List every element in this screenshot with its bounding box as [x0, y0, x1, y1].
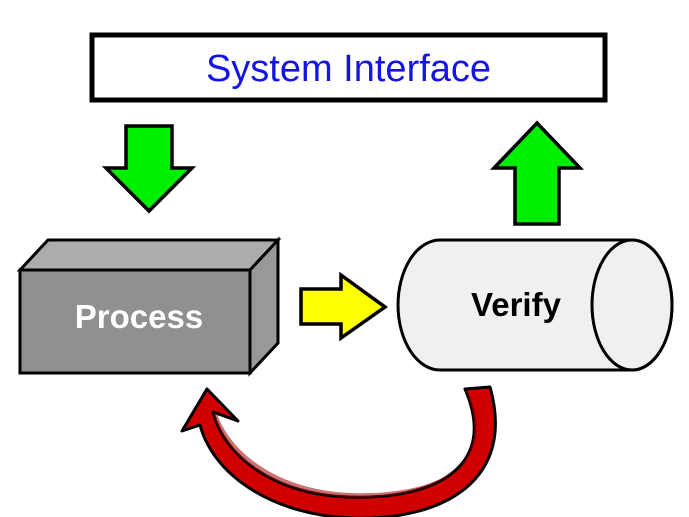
arrow-up-icon[interactable] [494, 123, 580, 224]
arrow-down-icon[interactable] [106, 126, 192, 211]
arrow-curved-u-body [182, 387, 495, 517]
arrow-curved-u-icon[interactable] [182, 387, 495, 517]
process-box-top-face [20, 240, 278, 270]
verify-label: Verify [400, 288, 632, 321]
process-label: Process [20, 300, 258, 333]
arrow-right-icon[interactable] [301, 275, 385, 338]
system-interface-label: System Interface [92, 50, 605, 88]
diagram-canvas: System Interface Process Verify [0, 0, 689, 517]
